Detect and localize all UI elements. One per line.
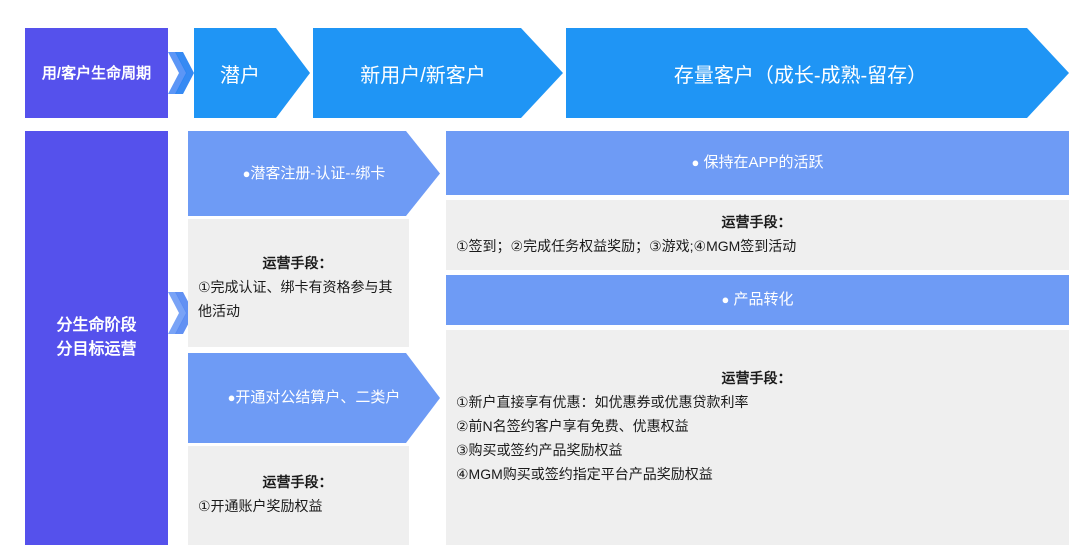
lifecycle-stage-1-label: 潜户 <box>194 59 310 88</box>
operations-row-label-line2: 分目标运营 <box>56 338 136 362</box>
double-chevron-right-icon <box>168 50 194 96</box>
lifecycle-stage-3-label: 存量客户（成长-成熟-留存） <box>566 59 1069 88</box>
new-customer-stage-2-label: ●开通对公结算户、二类户 <box>228 388 401 408</box>
new-customer-detail-2-heading: 运营手段： <box>198 470 397 494</box>
lifecycle-stage-2-label: 新用户/新客户 <box>313 59 563 88</box>
bullet-icon: ● <box>691 155 699 170</box>
existing-customer-stage-2-label: ● 产品转化 <box>721 290 793 310</box>
existing-customer-detail-1: 运营手段： ①签到；②完成任务权益奖励；③游戏;④MGM签到活动 <box>446 200 1069 270</box>
new-customer-stage-1-label: ●潜客注册-认证--绑卡 <box>243 164 386 184</box>
lifecycle-stage-3[interactable]: 存量客户（成长-成熟-留存） <box>566 28 1069 118</box>
new-customer-detail-2: 运营手段： ①开通账户奖励权益 <box>188 446 409 545</box>
new-customer-detail-2-line-1: ①开通账户奖励权益 <box>198 494 397 518</box>
existing-customer-detail-2-line-4: ④MGM购买或签约指定平台产品奖励权益 <box>456 462 1057 486</box>
diagram-canvas: 用/客户生命周期 潜户 新用户/新客户 存量客户（成长-成熟-留存） 分生命阶段… <box>0 0 1080 554</box>
new-customer-detail-1-heading: 运营手段： <box>198 251 397 275</box>
existing-customer-detail-1-heading: 运营手段： <box>456 210 1057 234</box>
new-customer-detail-1: 运营手段： ①完成认证、绑卡有资格参与其他活动 <box>188 219 409 347</box>
existing-customer-detail-2-line-2: ②前N名签约客户享有免费、优惠权益 <box>456 414 1057 438</box>
new-customer-stage-1[interactable]: ●潜客注册-认证--绑卡 <box>188 131 440 216</box>
operations-row-label-line1: 分生命阶段 <box>56 314 136 338</box>
lifecycle-row-label-text: 用/客户生命周期 <box>42 63 151 84</box>
lifecycle-row-label: 用/客户生命周期 <box>25 28 168 118</box>
existing-customer-detail-1-line-1: ①签到；②完成任务权益奖励；③游戏;④MGM签到活动 <box>456 234 1057 258</box>
new-customer-stage-2[interactable]: ●开通对公结算户、二类户 <box>188 353 440 443</box>
existing-customer-detail-2: 运营手段： ①新户直接享有优惠：如优惠券或优惠贷款利率 ②前N名签约客户享有免费… <box>446 330 1069 545</box>
bullet-icon: ● <box>721 292 729 307</box>
lifecycle-stage-2[interactable]: 新用户/新客户 <box>313 28 563 118</box>
existing-customer-stage-1-label: ● 保持在APP的活跃 <box>691 153 823 173</box>
operations-row-label-stack: 分生命阶段 分目标运营 <box>56 314 136 362</box>
operations-row-label: 分生命阶段 分目标运营 <box>25 131 168 545</box>
lifecycle-stage-1[interactable]: 潜户 <box>194 28 310 118</box>
existing-customer-detail-2-line-3: ③购买或签约产品奖励权益 <box>456 438 1057 462</box>
existing-customer-detail-2-line-1: ①新户直接享有优惠：如优惠券或优惠贷款利率 <box>456 390 1057 414</box>
existing-customer-detail-2-heading: 运营手段： <box>456 366 1057 390</box>
existing-customer-stage-1[interactable]: ● 保持在APP的活跃 <box>446 131 1069 195</box>
existing-customer-stage-2[interactable]: ● 产品转化 <box>446 275 1069 325</box>
new-customer-detail-1-line-1: ①完成认证、绑卡有资格参与其他活动 <box>198 275 397 323</box>
